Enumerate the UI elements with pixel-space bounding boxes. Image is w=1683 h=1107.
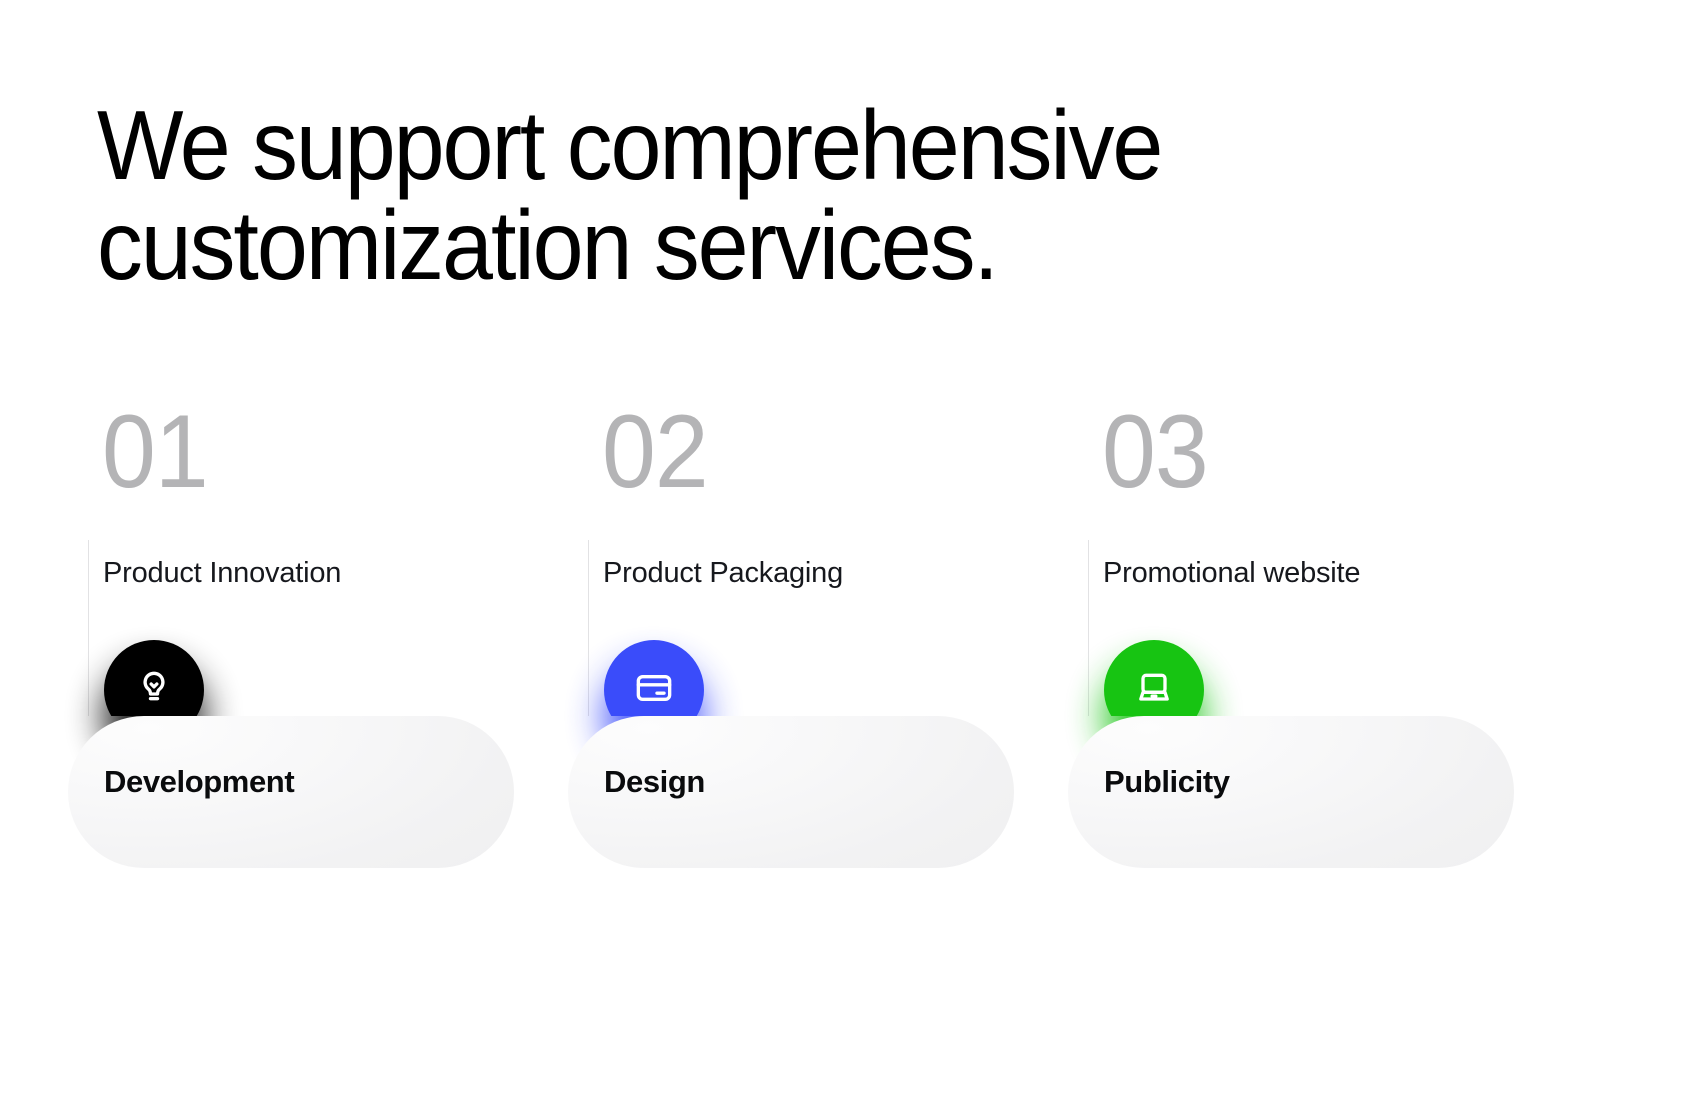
step-card-2[interactable]: 02 Product Packaging Design (568, 404, 1068, 874)
step-card-1[interactable]: 01 Product Innovation Development (68, 404, 568, 874)
pill-label: Publicity (1104, 766, 1230, 797)
step-pill-group[interactable]: Publicity (1068, 640, 1514, 874)
step-pill-group[interactable]: Development (68, 640, 514, 874)
pill-label: Design (604, 766, 705, 797)
step-number: 01 (102, 400, 208, 504)
step-title: Promotional website (1103, 556, 1360, 591)
steps-row: 01 Product Innovation Development (0, 404, 1683, 874)
step-number: 02 (602, 400, 708, 504)
step-number: 03 (1102, 400, 1208, 504)
pill-background[interactable]: Design (568, 716, 1014, 868)
page-root: We support comprehensive customization s… (0, 0, 1683, 1107)
pill-label: Development (104, 766, 294, 797)
pill-background[interactable]: Publicity (1068, 716, 1514, 868)
pill-background[interactable]: Development (68, 716, 514, 868)
page-title: We support comprehensive customization s… (97, 96, 1425, 296)
step-card-3[interactable]: 03 Promotional website Publicity (1068, 404, 1568, 874)
step-title: Product Innovation (103, 556, 341, 591)
step-pill-group[interactable]: Design (568, 640, 1014, 874)
step-title: Product Packaging (603, 556, 843, 591)
